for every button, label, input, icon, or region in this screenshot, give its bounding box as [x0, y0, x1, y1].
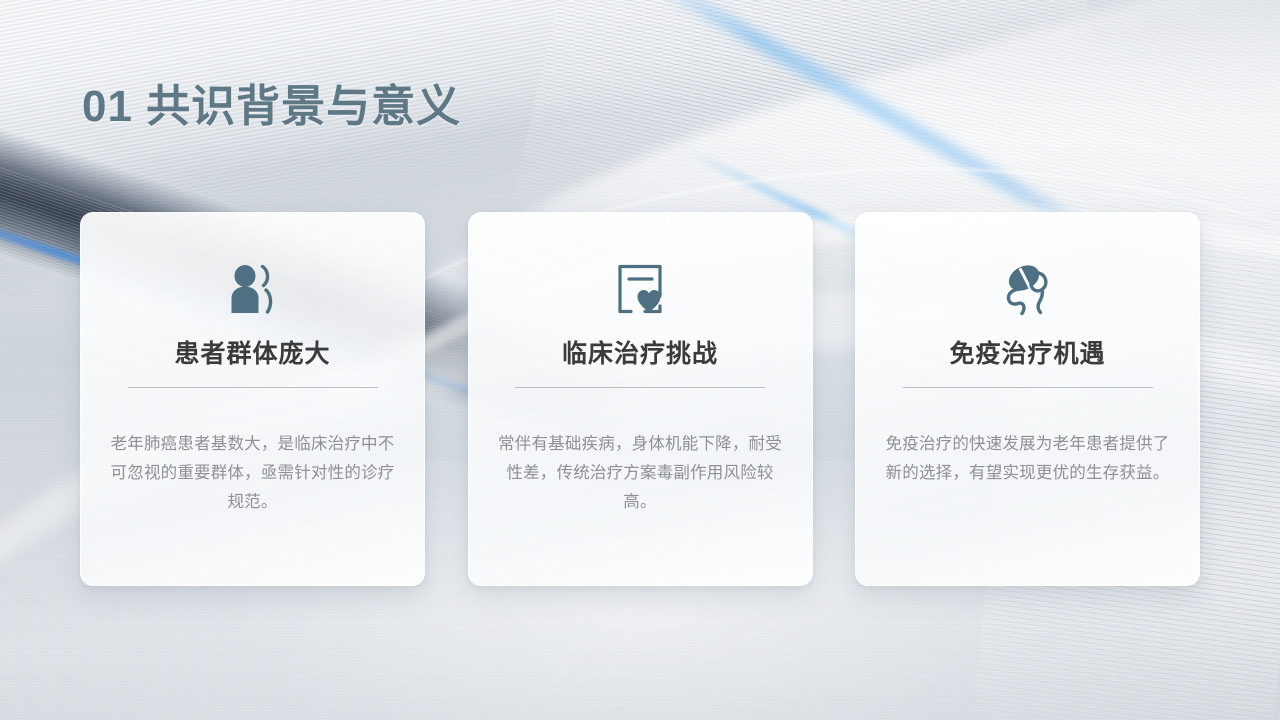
feature-card-title: 临床治疗挑战 — [562, 339, 718, 369]
feature-card-patient-population[interactable]: 患者群体庞大 老年肺癌患者基数大，是临床治疗中不可忽视的重要群体，亟需针对性的诊… — [80, 212, 425, 586]
feature-card-clinical-challenge[interactable]: 临床治疗挑战 常伴有基础疾病，身体机能下降，耐受性差，传统治疗方案毒副作用风险较… — [468, 212, 813, 586]
feature-card-row: 患者群体庞大 老年肺癌患者基数大，是临床治疗中不可忽视的重要群体，亟需针对性的诊… — [80, 212, 1200, 586]
feature-card-title: 免疫治疗机遇 — [949, 339, 1105, 369]
people-group-icon — [221, 261, 285, 317]
card-divider — [515, 387, 765, 388]
feature-card-description: 免疫治疗的快速发展为老年患者提供了新的选择，有望实现更优的生存获益。 — [884, 430, 1171, 488]
feature-card-description: 常伴有基础疾病，身体机能下降，耐受性差，传统治疗方案毒副作用风险较高。 — [497, 430, 784, 517]
lungs-icon — [996, 261, 1060, 317]
presentation-slide: 01 共识背景与意义 患者群体庞大 老年肺癌患者基数大，是临床治疗中不可忽视的重… — [0, 0, 1280, 720]
medical-record-heart-icon — [608, 261, 672, 317]
card-divider — [903, 387, 1153, 388]
page-title: 01 共识背景与意义 — [82, 70, 461, 134]
feature-card-immunotherapy-opportunity[interactable]: 免疫治疗机遇 免疫治疗的快速发展为老年患者提供了新的选择，有望实现更优的生存获益… — [855, 212, 1200, 586]
card-divider — [128, 387, 378, 388]
feature-card-title: 患者群体庞大 — [174, 339, 330, 369]
feature-card-description: 老年肺癌患者基数大，是临床治疗中不可忽视的重要群体，亟需针对性的诊疗规范。 — [109, 430, 396, 517]
